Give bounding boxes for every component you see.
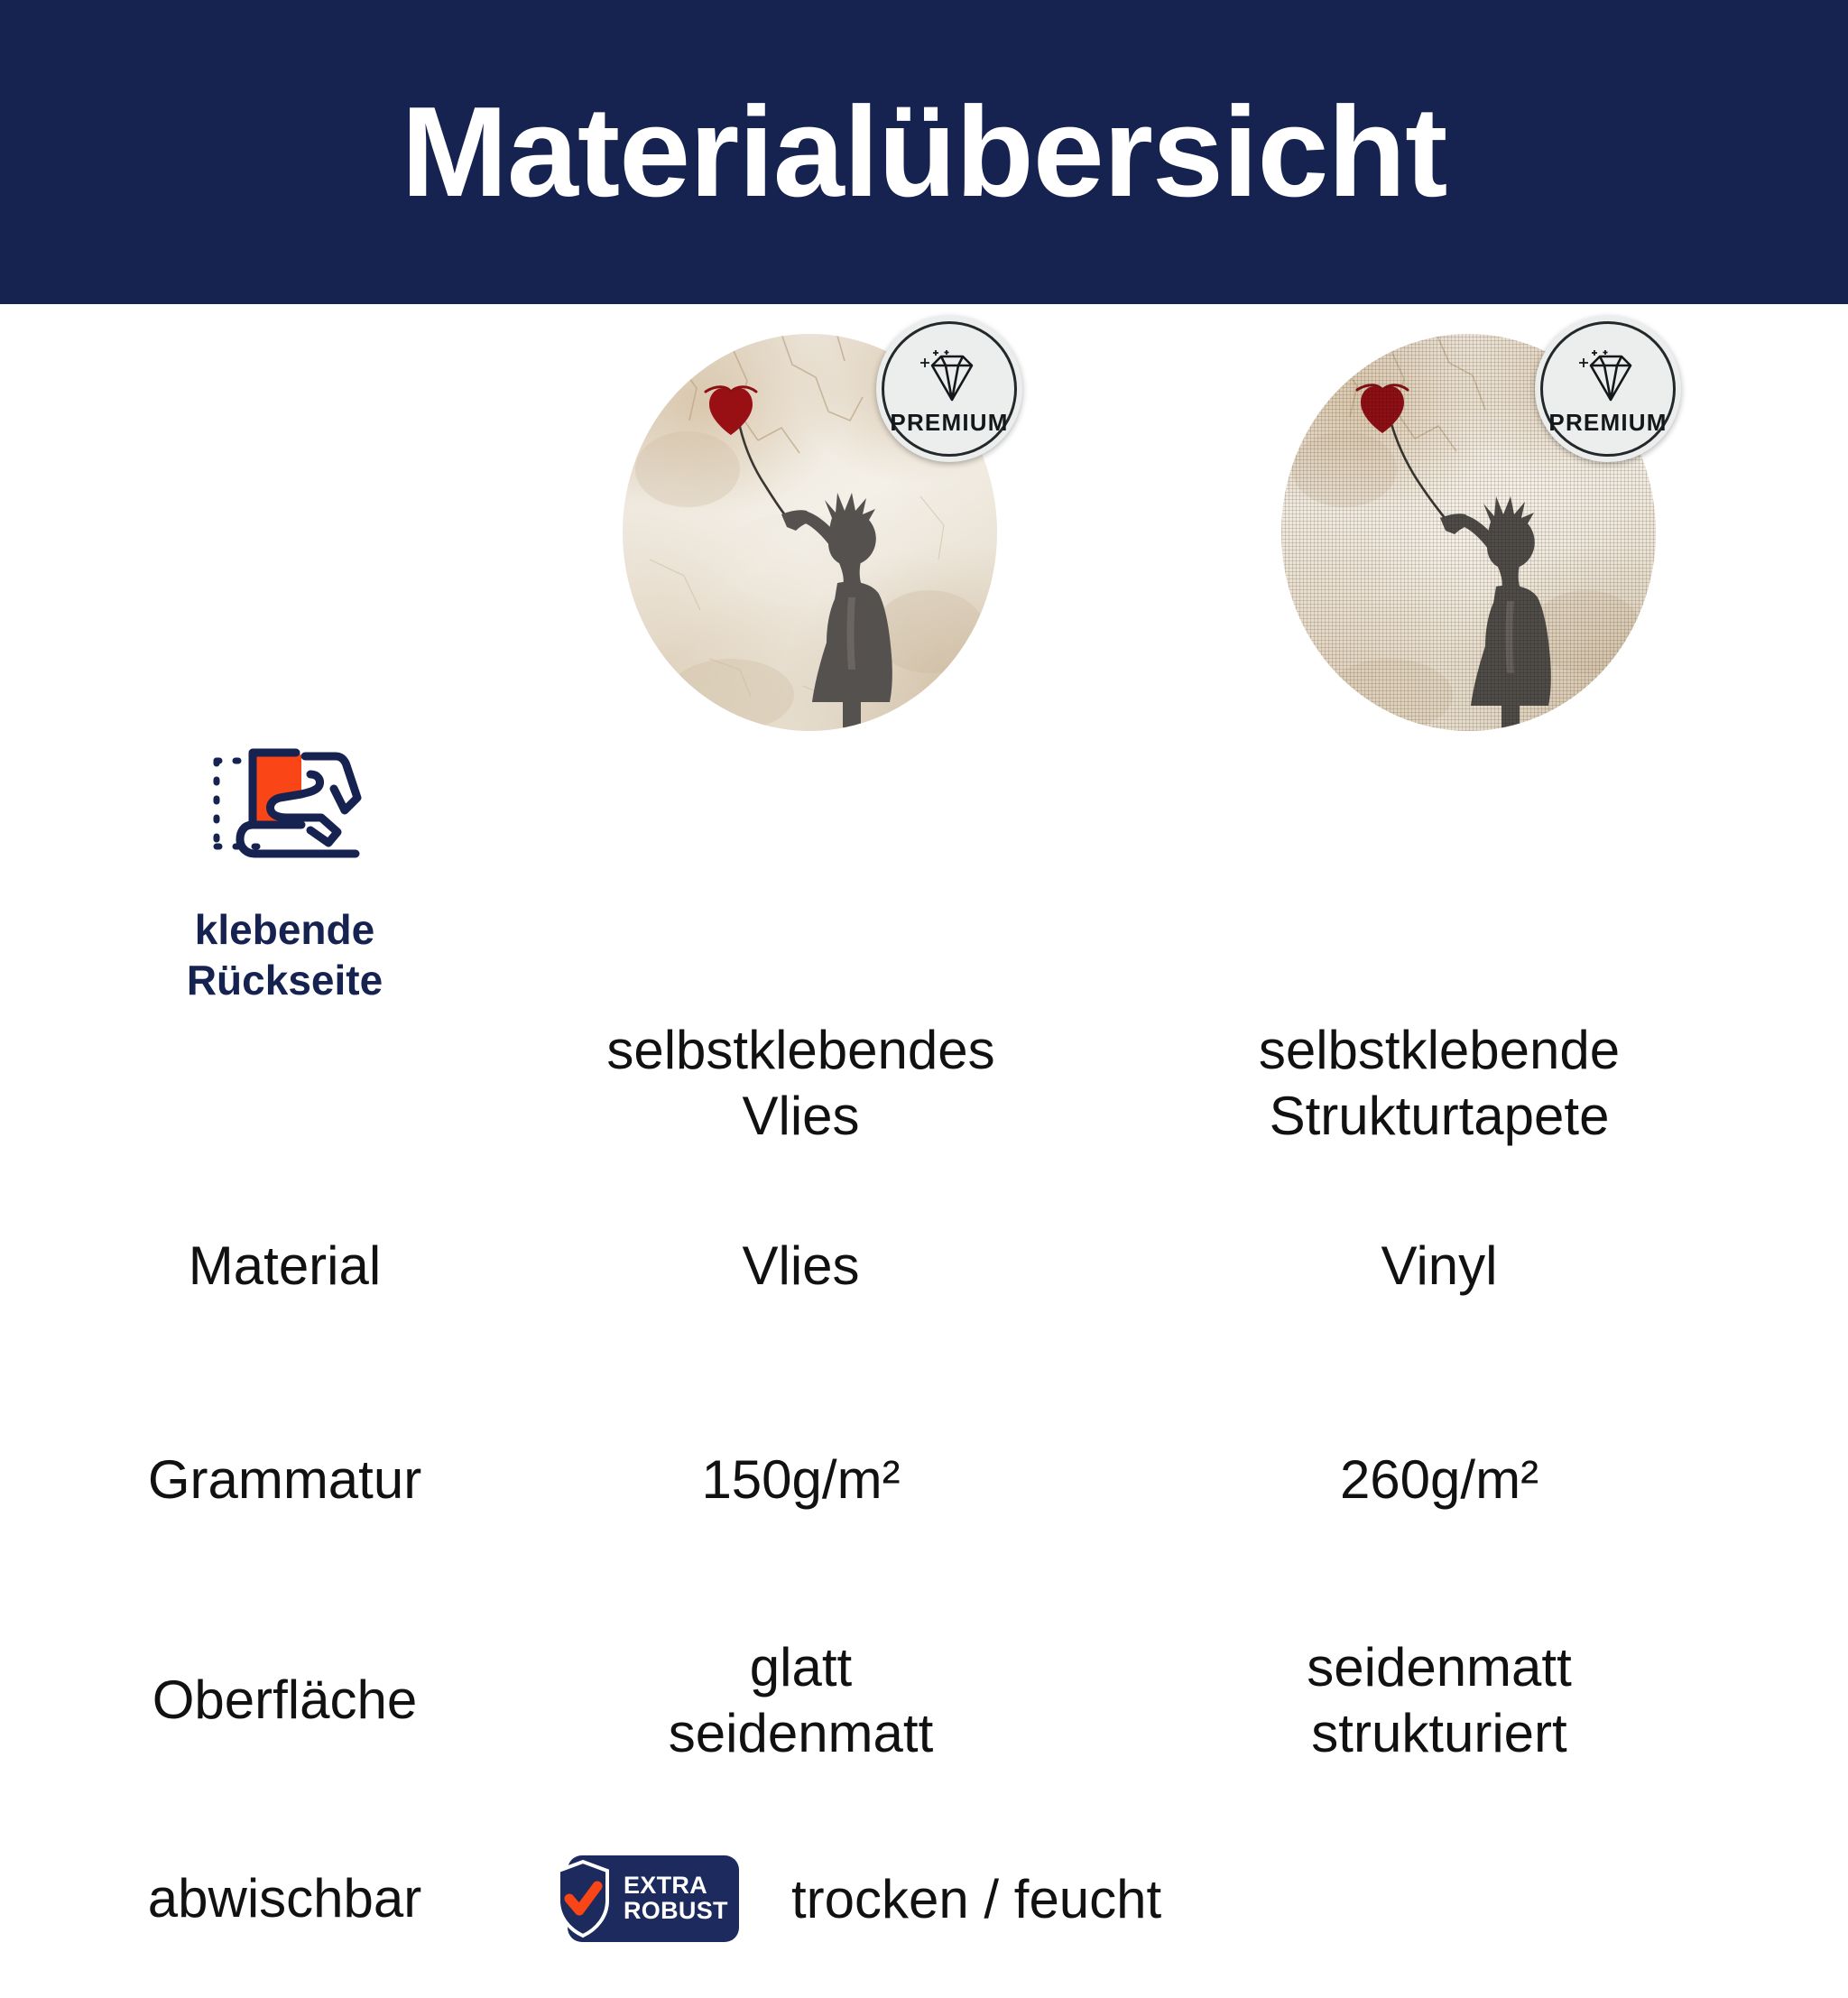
diamond-icon bbox=[916, 349, 983, 407]
row-label-oberflaeche: Oberfläche bbox=[88, 1601, 481, 1799]
row-value-oberflaeche-strukturtapete: seidenmatt strukturiert bbox=[1121, 1601, 1758, 1799]
shield-check-icon bbox=[555, 1859, 611, 1938]
material-spec-table: klebende Rückseite selbstklebendes Vlies… bbox=[88, 993, 1758, 1998]
premium-badge: PREMIUM bbox=[1535, 316, 1681, 462]
table-header-row: klebende Rückseite selbstklebendes Vlies… bbox=[88, 993, 1758, 1173]
product-preview-vlies[interactable]: PREMIUM bbox=[623, 334, 997, 731]
row-label-abwischbar: abwischbar bbox=[88, 1799, 481, 1998]
premium-badge-inner: PREMIUM bbox=[882, 321, 1017, 457]
row-value-oberflaeche-vlies: glatt seidenmatt bbox=[481, 1601, 1121, 1799]
page-header: Materialübersicht bbox=[0, 0, 1848, 304]
adhesive-backing-label: klebende Rückseite bbox=[88, 904, 481, 1005]
product-preview-row: PREMIUM bbox=[0, 304, 1848, 746]
adhesive-backing-cell: klebende Rückseite bbox=[88, 993, 481, 1173]
column-header-vlies: selbstklebendes Vlies bbox=[481, 993, 1121, 1173]
diamond-icon bbox=[1575, 349, 1641, 407]
premium-badge-label: PREMIUM bbox=[1548, 411, 1667, 434]
row-label-grammatur: Grammatur bbox=[88, 1359, 481, 1601]
row-value-material-strukturtapete: Vinyl bbox=[1121, 1173, 1758, 1359]
row-label-material: Material bbox=[88, 1173, 481, 1359]
table-row: Material Vlies Vinyl bbox=[88, 1173, 1758, 1359]
abwischbar-value-text: trocken / feucht bbox=[791, 1868, 1161, 1930]
page-title: Materialübersicht bbox=[402, 88, 1447, 217]
row-value-grammatur-vlies: 150g/m² bbox=[481, 1359, 1121, 1601]
extra-robust-badge: EXTRA ROBUST bbox=[568, 1855, 739, 1942]
extra-robust-label: EXTRA ROBUST bbox=[624, 1873, 728, 1923]
table-row: abwischbar EXTRA ROBUST trocken / feucht bbox=[88, 1799, 1758, 1998]
row-value-grammatur-strukturtapete: 260g/m² bbox=[1121, 1359, 1758, 1601]
peel-adhesive-backing-icon bbox=[88, 731, 481, 863]
table-row: Oberfläche glatt seidenmatt seidenmatt s… bbox=[88, 1601, 1758, 1799]
row-value-abwischbar: EXTRA ROBUST trocken / feucht bbox=[481, 1799, 1758, 1998]
column-header-strukturtapete: selbstklebende Strukturtapete bbox=[1121, 993, 1758, 1173]
row-value-material-vlies: Vlies bbox=[481, 1173, 1121, 1359]
premium-badge: PREMIUM bbox=[876, 316, 1022, 462]
table-row: Grammatur 150g/m² 260g/m² bbox=[88, 1359, 1758, 1601]
premium-badge-inner: PREMIUM bbox=[1540, 321, 1676, 457]
product-preview-strukturtapete[interactable]: PREMIUM bbox=[1281, 334, 1656, 731]
premium-badge-label: PREMIUM bbox=[890, 411, 1008, 434]
